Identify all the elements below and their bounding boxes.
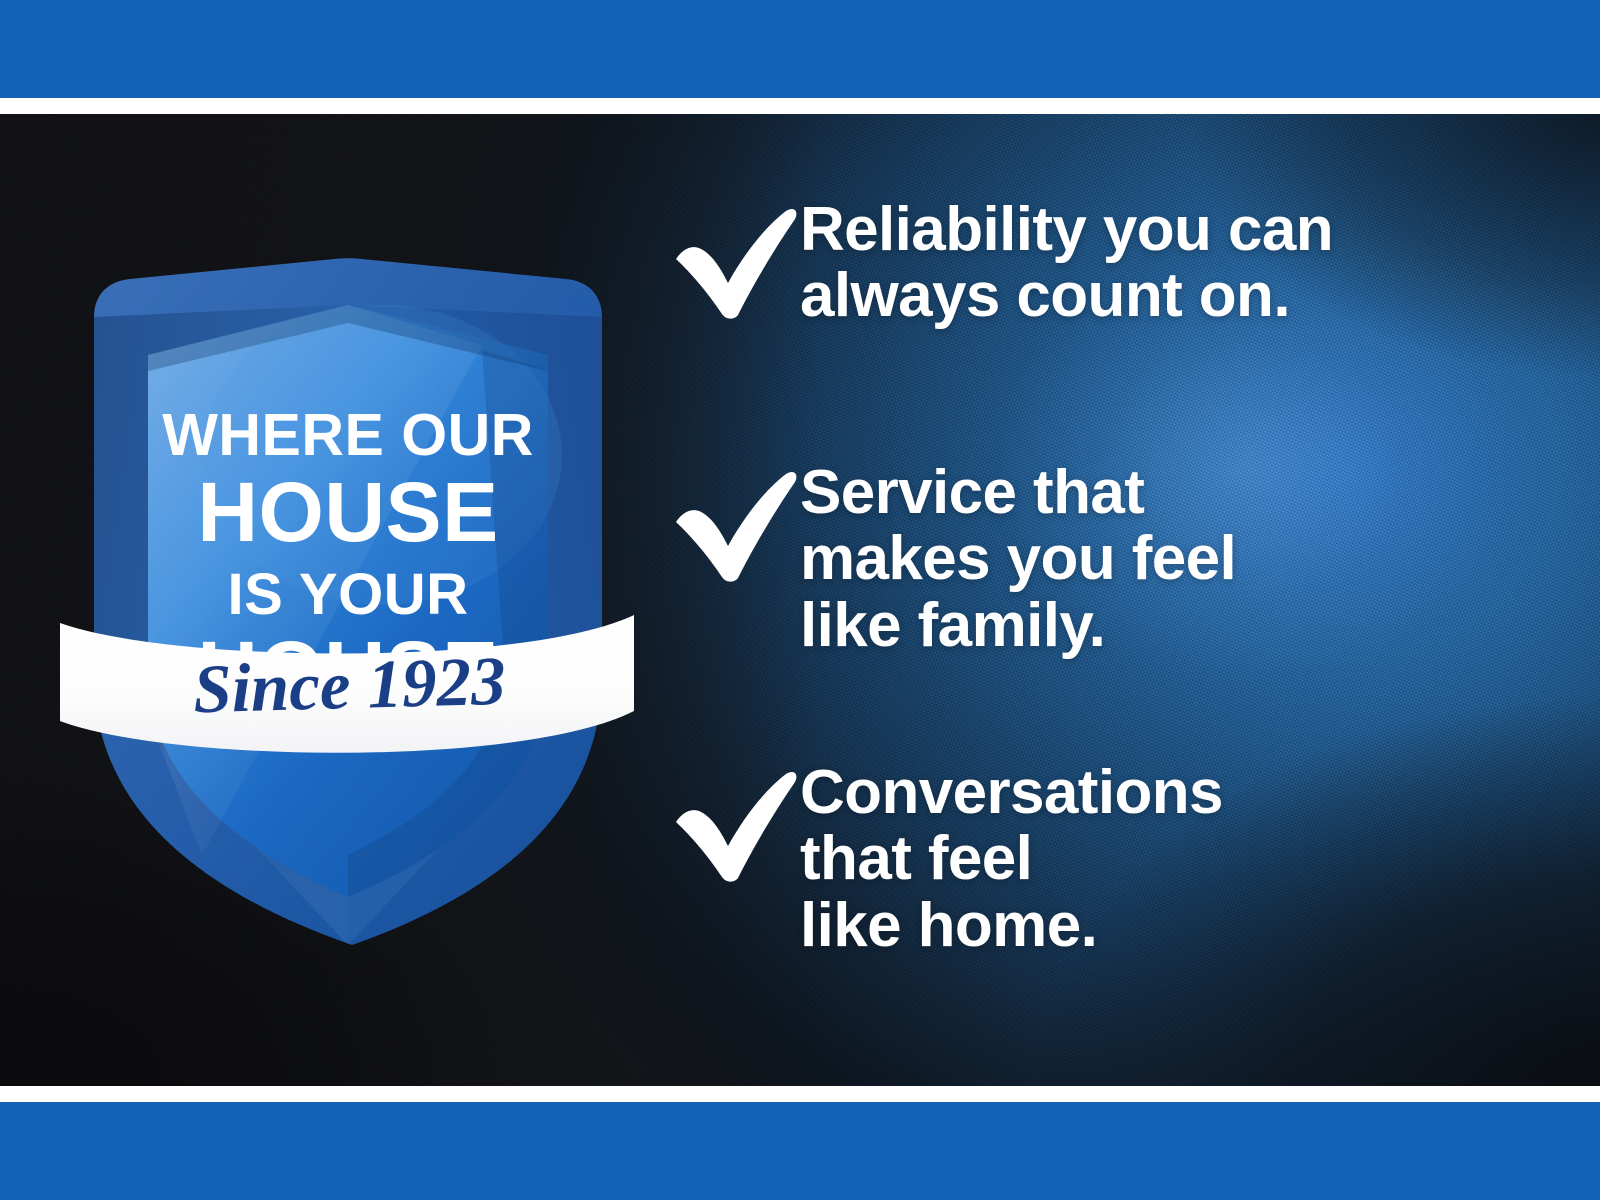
benefit-text-1: Reliability you can always count on. [800,197,1333,330]
benefit-item-2: Service that makes you feel like family. [668,460,1236,659]
bottom-divider-gap [0,1086,1600,1102]
since-banner-text: Since 1923 [192,643,506,728]
shield-logo: WHERE OUR HOUSE IS YOUR HOUSE Since 1923 [52,155,642,960]
top-brand-band [0,0,1600,98]
checkmark-icon [668,464,800,582]
logo-line-3: IS YOUR [228,562,469,627]
benefits-list: Reliability you can always count on. Ser… [668,175,1548,1005]
top-divider-gap [0,98,1600,114]
logo-line-1: WHERE OUR [162,402,534,468]
benefit-text-3: Conversations that feel like home. [800,760,1223,959]
benefit-item-1: Reliability you can always count on. [668,197,1333,330]
checkmark-icon [668,764,800,882]
logo-line-2: HOUSE [197,465,498,559]
checkmark-icon [668,201,800,319]
benefit-item-3: Conversations that feel like home. [668,760,1223,959]
benefit-text-2: Service that makes you feel like family. [800,460,1236,659]
bottom-brand-band [0,1102,1600,1200]
promo-graphic: WHERE OUR HOUSE IS YOUR HOUSE Since 1923… [0,0,1600,1200]
